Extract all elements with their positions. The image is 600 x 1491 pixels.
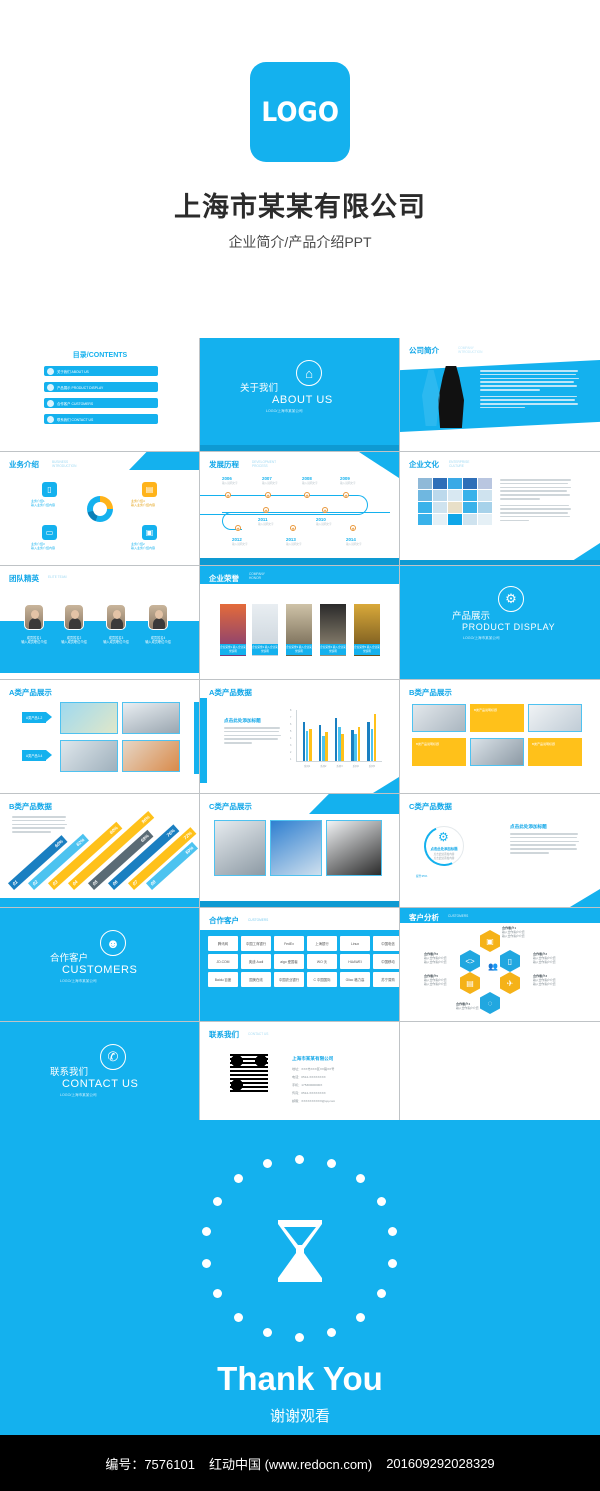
contents-heading: 目录/CONTENTS (0, 350, 200, 360)
timeline-dot: ★ (322, 507, 328, 513)
company-intro-copy (480, 370, 580, 411)
product-photo (60, 702, 118, 734)
home-icon: ⌂ (296, 360, 322, 386)
client-logo-grid: 腾讯网 中国工商银行 FedEx 上海银行 Linux 中国电信 JD.COM … (208, 936, 400, 987)
client-logo: 苏宁易购 (373, 972, 400, 987)
product-cover-logo: LOGO/上海市某某公司 (463, 636, 500, 641)
bar-group (319, 725, 328, 761)
thumb-row: ☻ 合作客户 CUSTOMERS LOGO/上海市某某公司 合作客户 CUSTO… (0, 908, 600, 1022)
timeline-year: 2014输入说明文字 (346, 537, 362, 546)
product-a-copy: 点击此处添加标题 (224, 718, 282, 746)
client-logo: FedEx (274, 936, 304, 951)
product-photo (122, 740, 180, 772)
honor-caption: 企业荣誉5 输入企业荣誉说明 (354, 644, 380, 655)
client-logo: HUAWEI (340, 954, 370, 969)
slide-title-en: DEVELOPMENT PROCESS (252, 460, 276, 468)
team-member-name: 成员姓名3 输入成员职位介绍 (98, 636, 134, 645)
gear-icon (47, 384, 54, 391)
client-logo: 中国农业银行 (274, 972, 304, 987)
product-caption-card: B类产品说明标题 (412, 738, 466, 766)
footer-id: 编号：7576101 (105, 1454, 195, 1473)
timeline-year: 2010输入说明文字 (316, 517, 332, 526)
product-caption-card: B类产品说明标题 (528, 738, 582, 766)
thumb-row: ✆ 联系我们 CONTACT US LOGO/上海市某某公司 联系我们 CONT… (0, 1022, 600, 1136)
product-photo (470, 738, 524, 766)
avatar (64, 604, 84, 630)
bar-group (351, 727, 360, 761)
timeline-year: 2006输入说明文字 (222, 476, 238, 485)
culture-copy (500, 479, 572, 523)
slide-thumb-empty (400, 1022, 600, 1136)
home-icon (47, 368, 54, 375)
copy-heading: 点击此处添加标题 (224, 718, 282, 724)
mobile-icon: ▯ (500, 950, 520, 972)
slide-thumb-contact-info[interactable]: 联系我们 CONTACT US 上海市某某有限公司 地址：XXX市XXX区XX路… (200, 1022, 400, 1136)
customers-cover-cn: 合作客户 (50, 950, 88, 964)
thumb-row: 业务介绍 BUSINESS INTRODUCTION ▯ 业务介绍1 输入业务介… (0, 452, 600, 566)
thumb-row: B类产品数据 0160% 0262% 0380% 0496% 0569% (0, 794, 600, 908)
gears-icon: ⚙ (498, 586, 524, 612)
slide-thumb-company-intro[interactable]: 公司简介 COMPANY INTRODUCTION (400, 338, 600, 452)
client-logo: aigo 爱国者 (274, 954, 304, 969)
slide-title: 客户分析 (409, 912, 439, 923)
footer-serial: 201609292028329 (386, 1456, 494, 1471)
thank-you-section: Thank You 谢谢观看 (0, 1120, 600, 1435)
contact-line: 电话：0512-XXXXXXXX (292, 1074, 326, 1079)
client-logo: Glico 格力高 (340, 972, 370, 987)
slide-title: 联系我们 (209, 1029, 239, 1040)
about-cover-logo: LOGO/上海市某某公司 (266, 409, 303, 414)
product-photo (528, 704, 582, 732)
contact-line: 手机：17530000000X (292, 1082, 322, 1087)
client-logo: 上海银行 (307, 936, 337, 951)
client-logo: Baidu 百度 (208, 972, 238, 987)
slide-thumb-development[interactable]: 发展历程 DEVELOPMENT PROCESS 2006输入说明文字 2007… (200, 452, 400, 566)
product-caption-card: B类产品说明标题 (470, 704, 524, 732)
people-icon: 👥 (488, 962, 498, 971)
document-icon: ▤ (460, 972, 480, 994)
toc-label: 关于我们 ABOUT US (57, 369, 89, 374)
thank-you-subtext: 谢谢观看 (0, 1405, 600, 1426)
slide-thumb-honor[interactable]: 企业荣誉 COMPANY HONOR 企业荣誉1 输入企业荣誉说明 企业荣誉2 … (200, 566, 400, 680)
slide-title: 发展历程 (209, 459, 239, 470)
slide-title-en: BUSINESS INTRODUCTION (52, 460, 76, 468)
code-icon: <> (460, 950, 480, 972)
footer-site: 红动中国 (www.redocn.com) (209, 1454, 372, 1473)
slide-thumb-product-a-data[interactable]: A类产品数据 点击此处添加标题 8 7 6 5 4 3 2 1 (200, 680, 400, 794)
slide-title: 合作客户 (209, 915, 239, 926)
toc-label: 产品展示 PRODUCT DISPLAY (57, 385, 103, 390)
product-tag: A类产品3-4 (22, 750, 46, 761)
product-cover-en: PRODUCT DISPLAY (462, 622, 555, 632)
slide-thumb-product-cover[interactable]: ⚙ 产品展示 PRODUCT DISPLAY LOGO/上海市某某公司 (400, 566, 600, 680)
team-member-name: 成员姓名1 输入成员职位介绍 (16, 636, 52, 645)
client-logo: 中国工商银行 (241, 936, 271, 951)
slide-thumb-customer-analysis[interactable]: 客户分析 CUSTOMERS ▣ 合作客户1 输入合作客户介绍 输入合作客户介绍… (400, 908, 600, 1022)
product-photo (60, 740, 118, 772)
business-node-caption: 业务介绍4 输入业务介绍内容 (131, 500, 155, 508)
copy-heading: 点击此处添加标题 (510, 824, 580, 830)
slide-title-en: COMPANY INTRODUCTION (458, 346, 482, 354)
avatar (148, 604, 168, 630)
business-node-caption: 业务介绍3 输入业务介绍内容 (31, 543, 55, 551)
timeline-year: 2011输入说明文字 (258, 517, 274, 526)
people-icon (47, 400, 54, 407)
slide-thumb-customers-logos[interactable]: 合作客户 CUSTOMERS 腾讯网 中国工商银行 FedEx 上海银行 Lin… (200, 908, 400, 1022)
slide-title: 公司简介 (409, 345, 439, 356)
product-photo (326, 820, 382, 876)
contact-company: 上海市某某有限公司 (292, 1056, 333, 1062)
slide-thumbnail-grid: 目录/CONTENTS 关于我们 ABOUT US 产品展示 PRODUCT D… (0, 338, 600, 1120)
bar-group (335, 718, 344, 761)
client-logo: 国美在线 (241, 972, 271, 987)
thumb-row: 团队精英 ELITE TEAM 成员姓名1 输入成员职位介绍 成员姓名2 输入成… (0, 566, 600, 680)
analysis-caption: 合作客户4 输入合作客户介绍 (456, 1002, 478, 1011)
donut-chart (87, 496, 113, 522)
customers-cover-en: CUSTOMERS (62, 964, 137, 976)
bar-chart: 8 7 6 5 4 3 2 1 系列1系 (296, 710, 382, 762)
laptop-icon: ▭ (42, 525, 57, 540)
analysis-caption: 合作客户2 输入合作客户介绍 输入合作客户介绍 (533, 952, 555, 964)
product-photo (122, 702, 180, 734)
slide-thumb-product-b-data[interactable]: B类产品数据 0160% 0262% 0380% 0496% 0569% (0, 794, 200, 908)
monitor-icon: ▣ (480, 930, 500, 952)
product-photo (412, 704, 466, 732)
slide-title-en: ELITE TEAM (48, 575, 67, 579)
toc-label: 合作客户 CUSTOMERS (57, 401, 93, 406)
page-title: 上海市某某有限公司 (0, 185, 600, 224)
analysis-caption: 合作客户5 输入合作客户介绍 输入合作客户介绍 (424, 974, 446, 986)
ring-subtext: 点击此处添加内容 点击此处添加内容 (426, 852, 462, 860)
timeline-year: 2009输入说明文字 (340, 476, 356, 485)
honor-caption: 企业荣誉3 输入企业荣誉说明 (286, 644, 312, 655)
slide-title-en: COMPANY HONOR (249, 572, 265, 580)
contact-line: 地址：XXX市XXX区XX路XX号 (292, 1066, 334, 1071)
slide-thumb-contact-cover[interactable]: ✆ 联系我们 CONTACT US LOGO/上海市某某公司 (0, 1022, 200, 1136)
logo-badge: LOGO (250, 62, 350, 162)
timeline-dot: ★ (350, 525, 356, 531)
analysis-caption: 合作客户1 输入合作客户介绍 输入合作客户介绍 (502, 926, 524, 938)
mobile-icon: ▯ (42, 482, 57, 497)
timeline-year: 2008输入说明文字 (302, 476, 318, 485)
footer-bar: 编号：7576101 红动中国 (www.redocn.com) 2016092… (0, 1435, 600, 1491)
avatar (24, 604, 44, 630)
qr-code (230, 1054, 268, 1092)
slide-title: A类产品数据 (209, 687, 252, 698)
about-cover-en: ABOUT US (272, 394, 333, 406)
book-icon: ▤ (142, 482, 157, 497)
contact-cover-cn: 联系我们 (50, 1064, 88, 1078)
slide-thumb-product-c-display[interactable]: C类产品展示 (200, 794, 400, 908)
slide-thumb-about-cover[interactable]: ⌂ 关于我们 ABOUT US LOGO/上海市某某公司 (200, 338, 400, 452)
slide-title: C类产品数据 (409, 801, 452, 812)
client-logo: 中国移动 (373, 954, 400, 969)
phone-icon: ✆ (100, 1044, 126, 1070)
toc-item-customers[interactable]: 合作客户 CUSTOMERS (44, 398, 158, 408)
toc-item-about[interactable]: 关于我们 ABOUT US (44, 366, 158, 376)
phone-icon (47, 416, 54, 423)
slide-title: C类产品展示 (209, 801, 252, 812)
contact-cover-en: CONTACT US (62, 1078, 139, 1090)
slide-title-en: ENTERPRISE CULTURE (449, 460, 469, 468)
x-axis-labels: 系列1系列2系列3系列4系列5 (299, 764, 380, 768)
analysis-caption: 合作客户6 输入合作客户介绍 输入合作客户介绍 (424, 952, 446, 964)
customers-cover-logo: LOGO/上海市某某公司 (60, 979, 97, 984)
client-logo: WO 沃 (307, 954, 337, 969)
slide-thumb-product-a-display[interactable]: A类产品展示 A类产品1-2 A类产品3-4 (0, 680, 200, 794)
slide-thumb-customers-cover[interactable]: ☻ 合作客户 CUSTOMERS LOGO/上海市某某公司 (0, 908, 200, 1022)
honor-caption: 企业荣誉4 输入企业荣誉说明 (320, 644, 346, 655)
people-icon: ☻ (100, 930, 126, 956)
team-member-name: 成员姓名2 输入成员职位介绍 (56, 636, 92, 645)
bar-group (367, 714, 376, 761)
honor-caption: 企业荣誉1 输入企业荣誉说明 (220, 644, 246, 655)
slide-title-en: CUSTOMERS (248, 918, 268, 922)
product-cover-cn: 产品展示 (452, 608, 490, 622)
honor-caption: 企业荣誉2 输入企业荣誉说明 (252, 644, 278, 655)
slide-title: A类产品展示 (9, 687, 52, 698)
plane-icon: ✈ (500, 972, 520, 994)
client-logo: C 中国国际 (307, 972, 337, 987)
timeline-year: 2013输入说明文字 (286, 537, 302, 546)
client-logo: 腾讯网 (208, 936, 238, 951)
slide-title: B类产品展示 (409, 687, 452, 698)
analysis-caption: 合作客户3 输入合作客户介绍 输入合作客户介绍 (533, 974, 555, 986)
slide-title: 团队精英 (9, 573, 39, 584)
toc-item-product[interactable]: 产品展示 PRODUCT DISPLAY (44, 382, 158, 392)
bar-group (303, 722, 312, 761)
timeline-dot: ★ (290, 525, 296, 531)
slide-title: 企业荣誉 (209, 573, 239, 584)
business-node-caption: 业务介绍1 输入业务介绍内容 (31, 500, 55, 508)
product-tag: A类产品1-2 (22, 712, 46, 723)
avatar (106, 604, 126, 630)
contact-cover-logo: LOGO/上海市某某公司 (60, 1093, 97, 1098)
timeline-year: 2007输入说明文字 (262, 476, 278, 485)
slide-thumb-contents[interactable]: 目录/CONTENTS 关于我们 ABOUT US 产品展示 PRODUCT D… (0, 338, 200, 452)
contact-line: 邮箱：XXXXXXXXXX@qq.com (292, 1098, 335, 1103)
client-logo: JD.COM (208, 954, 238, 969)
slide-thumb-business-intro[interactable]: 业务介绍 BUSINESS INTRODUCTION ▯ 业务介绍1 输入业务介… (0, 452, 200, 566)
bar-groups (299, 710, 380, 761)
thank-you-text: Thank You (0, 1360, 600, 1398)
client-logo: 中国电信 (373, 936, 400, 951)
toc-label: 联系我们 CONTACT US (57, 417, 93, 422)
hourglass-icon (272, 1218, 328, 1284)
client-logo: 奥迪 Audi (241, 954, 271, 969)
culture-image-mosaic (418, 478, 492, 525)
slide-title-en: CUSTOMERS (448, 914, 468, 918)
slide-thumb-culture[interactable]: 企业文化 ENTERPRISE CULTURE (400, 452, 600, 566)
timeline-dot: ★ (263, 507, 269, 513)
team-member-name: 成员姓名4 输入成员职位介绍 (140, 636, 176, 645)
briefcase-icon: ▣ (142, 525, 157, 540)
ring-badge: 提升25% (416, 874, 427, 878)
timeline-dot: ★ (235, 525, 241, 531)
slide-thumb-product-b-display[interactable]: B类产品展示 B类产品说明标题 B类产品说明标题 B类产品说明标题 (400, 680, 600, 794)
business-node-caption: 业务介绍2 输入业务介绍内容 (131, 543, 155, 551)
ppt-template-preview-page: LOGO 上海市某某有限公司 企业简介/产品介绍PPT 目录/CONTENTS … (0, 0, 600, 1491)
slide-thumb-team[interactable]: 团队精英 ELITE TEAM 成员姓名1 输入成员职位介绍 成员姓名2 输入成… (0, 566, 200, 680)
client-logo: Linux (340, 936, 370, 951)
toc-item-contact[interactable]: 联系我们 CONTACT US (44, 414, 158, 424)
timeline-dot: ★ (225, 492, 231, 498)
page-subtitle: 企业简介/产品介绍PPT (0, 232, 600, 252)
timeline-dot: ★ (265, 492, 271, 498)
timeline-year: 2012输入说明文字 (232, 537, 248, 546)
contact-line: 传真：0512-XXXXXXXX (292, 1090, 326, 1095)
product-c-copy: 点击此处添加标题 (510, 824, 580, 856)
ring-label: 点击此处添加标题 (426, 846, 462, 851)
thumb-row: A类产品展示 A类产品1-2 A类产品3-4 A类产品数据 点击此处添加标题 (0, 680, 600, 794)
slide-title: 业务介绍 (9, 459, 39, 470)
pill-icon: ◌ (480, 992, 500, 1014)
hero-section: LOGO 上海市某某有限公司 企业简介/产品介绍PPT (0, 0, 600, 338)
thumb-row: 目录/CONTENTS 关于我们 ABOUT US 产品展示 PRODUCT D… (0, 338, 600, 452)
logo-text: LOGO (261, 97, 339, 128)
slide-title: 企业文化 (409, 459, 439, 470)
slide-thumb-product-c-data[interactable]: C类产品数据 ⚙ 点击此处添加标题 点击此处添加内容 点击此处添加内容 提升25… (400, 794, 600, 908)
timeline-dot: ★ (343, 492, 349, 498)
slide-title-en: CONTACT US (248, 1032, 268, 1036)
gear-icon: ⚙ (438, 830, 449, 844)
diagonal-percent-chart: 0160% 0262% 0380% 0496% 0569% 0676% 0772… (0, 794, 200, 908)
timeline-dot: ★ (304, 492, 310, 498)
about-cover-cn: 关于我们 (240, 380, 278, 394)
product-photo (270, 820, 322, 876)
product-photo (214, 820, 266, 876)
